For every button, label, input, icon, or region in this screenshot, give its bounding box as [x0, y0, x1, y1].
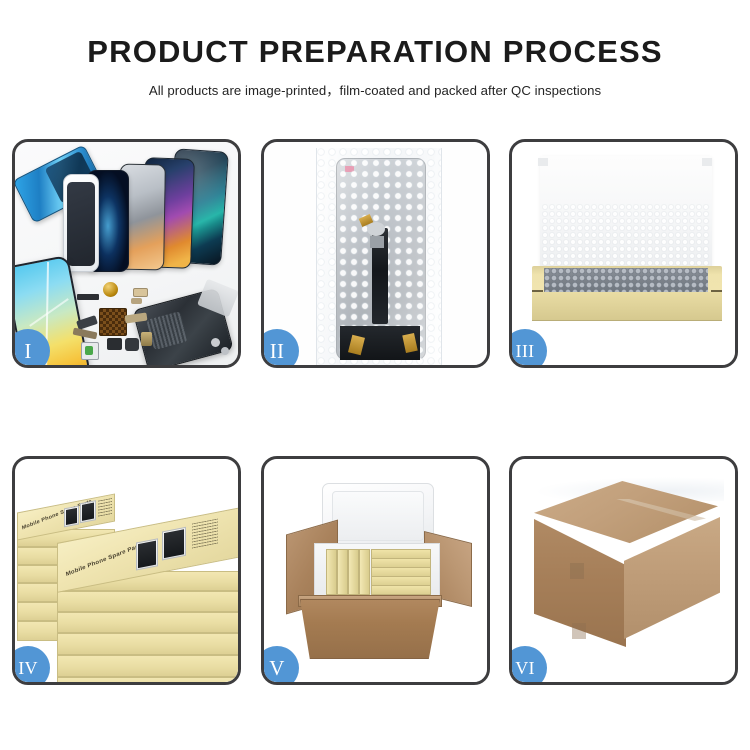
retail-box-icon	[57, 677, 238, 682]
spare-part-flex-a-icon	[133, 288, 148, 297]
retail-box-icon	[57, 591, 238, 612]
spare-part-sensor-icon	[85, 346, 93, 355]
retail-box-icon	[57, 612, 238, 633]
lid-lip-left-icon	[538, 158, 548, 166]
step-5-photo	[264, 459, 487, 682]
page-subtitle: All products are image-printed，film-coat…	[0, 80, 750, 99]
step-3-photo	[512, 142, 735, 365]
box-thumbnail-icon	[136, 538, 158, 570]
packed-box-icon	[326, 549, 337, 595]
grey-bubble-contents-icon	[544, 268, 708, 292]
packed-box-icon	[359, 549, 370, 595]
flex-driver-chip-icon	[370, 236, 384, 248]
spare-part-coil-icon	[103, 282, 118, 297]
spare-part-screw-b-icon	[221, 347, 229, 355]
box-thumbnail-icon	[80, 500, 96, 523]
spare-part-speaker-icon	[125, 338, 139, 351]
step-1-photo	[15, 142, 238, 365]
step-panel-3: III	[509, 139, 738, 368]
foam-lid-icon	[322, 483, 434, 551]
packed-box-icon	[371, 585, 431, 595]
step-panel-1: I	[12, 139, 241, 368]
lid-lip-right-icon	[702, 158, 712, 166]
spare-part-flex-b-icon	[131, 298, 142, 304]
inner-box-front-panel-icon	[532, 292, 722, 321]
spare-part-camera-icon	[107, 338, 122, 350]
retail-box-icon	[57, 633, 238, 655]
step-6-photo	[512, 459, 735, 682]
spare-part-strip-icon	[77, 294, 99, 300]
step-4-photo: Mobile Phone Spare Parts Mobile Phone	[15, 459, 238, 682]
page-title: PRODUCT PREPARATION PROCESS	[0, 36, 750, 69]
box-thumbnail-icon	[162, 527, 186, 561]
product-preparation-infographic: PRODUCT PREPARATION PROCESS All products…	[0, 0, 750, 750]
step-2-photo	[264, 142, 487, 365]
spare-part-battery-icon	[141, 332, 152, 346]
carton-handle-slot-bottom-icon	[572, 623, 586, 639]
flex-connector-pad-icon	[367, 222, 385, 236]
spare-part-screw-tray-icon	[99, 308, 127, 336]
box-spec-lines-icon	[192, 519, 218, 550]
box-thumbnail-icon	[64, 505, 79, 527]
header: PRODUCT PREPARATION PROCESS All products…	[0, 36, 750, 99]
tempered-glass-film-icon	[63, 174, 99, 272]
step-panel-5: V	[261, 456, 490, 685]
packed-box-icon	[337, 549, 348, 595]
step-panel-6: VI	[509, 456, 738, 685]
spare-part-screw-a-icon	[211, 338, 220, 347]
step-panel-4: Mobile Phone Spare Parts Mobile Phone	[12, 456, 241, 685]
retail-box-label-text: Mobile Phone Spare Parts	[65, 542, 144, 578]
process-step-grid: I II	[12, 139, 738, 685]
step-panel-2: II	[261, 139, 490, 368]
carton-body-icon	[300, 599, 440, 659]
packed-box-icon	[348, 549, 359, 595]
retail-box-stack-icon: Mobile Phone Spare Parts Mobile Phone	[15, 459, 238, 682]
box-spec-lines-icon	[98, 498, 112, 517]
carton-handle-slot-top-icon	[570, 563, 584, 579]
retail-box-icon	[57, 655, 238, 677]
